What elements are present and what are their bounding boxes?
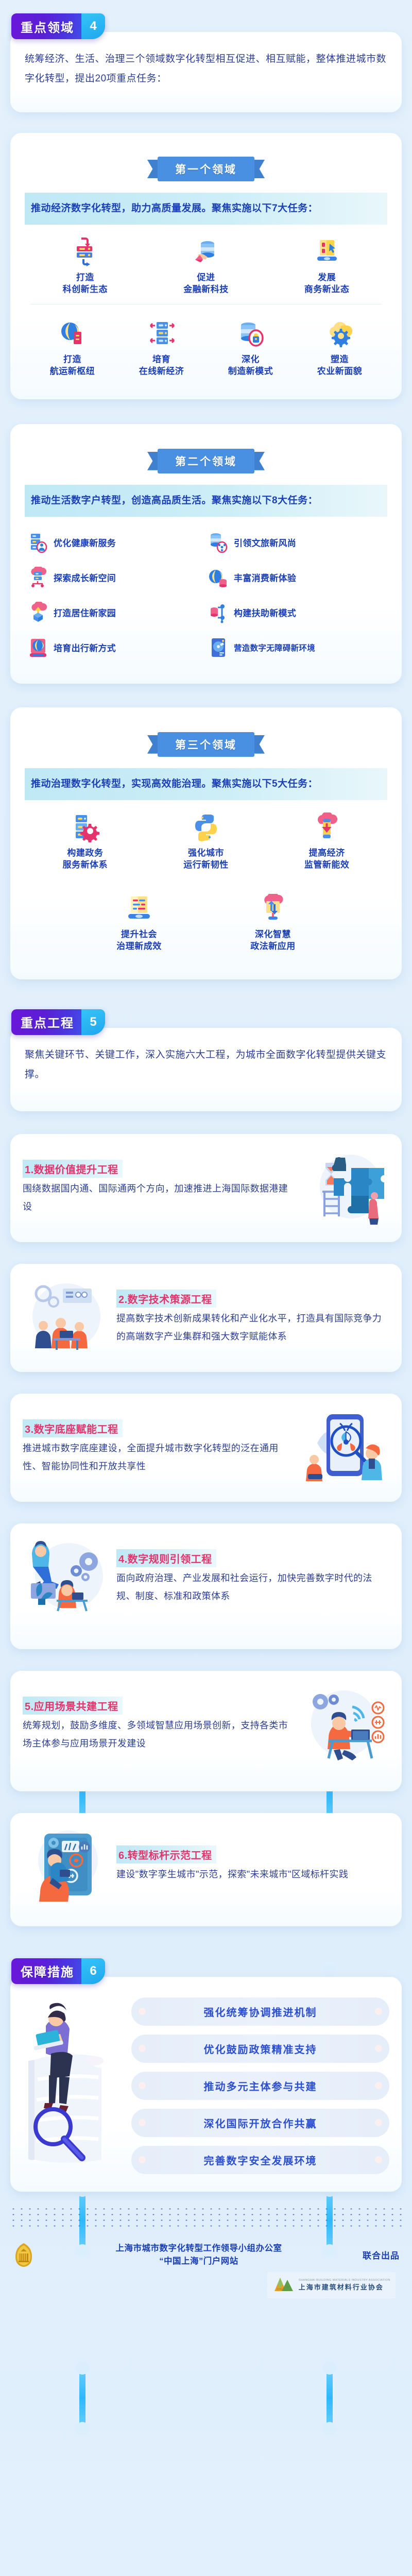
project-title: 4.数字规则引领工程 (116, 1549, 216, 1567)
task-item[interactable]: 构建政务 服务新体系 (25, 809, 146, 873)
task-label-line2: 在线新经济 (118, 366, 205, 378)
measures-card: 强化统筹协调推进机制 优化鼓励政策精准支持 推动多元主体参与共建 深化国际开放合… (10, 1977, 402, 2192)
chip-title: 重点工程 (11, 1009, 81, 1035)
domain2-task-list: 优化健康新服务 引领文旅新风尚 探索成长新空间 丰富消费新体验 打造居住新家园 (25, 517, 387, 668)
project-row: 3.数字底座赋能工程 推进城市数字底座建设，全面提升城市数字化转型的泛在通用性、… (23, 1409, 389, 1486)
task-label-line1: 促进 (147, 272, 266, 284)
task-label-line1: 塑造 (296, 354, 383, 366)
project-text: 4.数字规则引领工程 面向政府治理、产业发展和社会运行，加快完善数字时代的法规、… (116, 1549, 389, 1605)
project-text: 5.应用场景共建工程 统筹规划，鼓励多维度、多领域智慧应用场景创新，支持各类市场… (23, 1697, 296, 1753)
task-label-line2: 金融新科技 (147, 284, 266, 296)
project-body: 统筹规划，鼓励多维度、多领域智慧应用场景创新，支持各类市场主体参与应用场景开发建… (23, 1717, 296, 1753)
task-label-line1: 提升社会 (96, 929, 182, 941)
task-label-line1: 培育 (118, 354, 205, 366)
task-label-line2: 商务新业态 (267, 284, 386, 296)
phone-magnifier-art (302, 1409, 389, 1486)
task-item[interactable]: 打造居住新家园 (26, 595, 206, 630)
dotted-separator (9, 2206, 403, 2228)
task-item[interactable]: 打造 航运新枢纽 (28, 316, 117, 380)
puzzle-hourglass-art (302, 1149, 389, 1227)
cloud-download-phone-icon (267, 811, 386, 843)
task-label-line1: 深化智慧 (230, 929, 316, 941)
measure-item[interactable]: 完善数字安全发展环境 (131, 2146, 389, 2174)
task-label: 打造居住新家园 (54, 606, 116, 619)
measure-item[interactable]: 推动多元主体参与共建 (131, 2072, 389, 2100)
project-text: 1.数据价值提升工程 围绕数据国内通、国际通两个方向，加速推进上海国际数据港建设 (23, 1160, 296, 1216)
globe-database-icon (208, 567, 229, 588)
domain1-ribbon-row: 第一个领域 (25, 157, 387, 181)
chip-number: 4 (81, 13, 105, 39)
project-body: 推进城市数字底座建设，全面提升城市数字化转型的泛在通用性、智能协同性和开放共享性 (23, 1439, 296, 1476)
project-title: 6.转型标杆示范工程 (116, 1845, 216, 1863)
key-areas-chip: 重点领域 4 (0, 13, 412, 39)
project-card: 4.数字规则引领工程 面向政府治理、产业发展和社会运行，加快完善数字时代的法规、… (10, 1523, 402, 1649)
domain2-ribbon-row: 第二个领域 (25, 449, 387, 473)
domain3-row1: 构建政务 服务新体系 强化城市 运行新韧性 提高经济 监管新能效 (25, 800, 387, 877)
task-item[interactable]: 培育 在线新经济 (117, 316, 206, 380)
laptop-list-icon (96, 893, 182, 925)
measures-chip: 保障措施 6 (0, 1958, 412, 1984)
row-divider (30, 304, 382, 304)
key-projects-lead: 聚焦关键环节、关键工作，深入实施六大工程，为城市全面数字化转型提供关键支撑。 (25, 1045, 387, 1084)
key-areas-card: 统筹经济、生活、治理三个领域数字化转型相互促进、相互赋能，整体推进城市数字化转型… (10, 32, 402, 112)
domain3-card: 第三个领域 推动治理数字化转型，实现高效能治理。聚焦实施以下5大任务： 构建政务… (10, 707, 402, 979)
project-title: 3.数字底座赋能工程 (23, 1419, 123, 1437)
server-arrows-icon (118, 318, 205, 350)
chip-badge: 保障措施 6 (11, 1958, 105, 1984)
connector-rail (79, 2365, 85, 2432)
task-item[interactable]: 提高经济 监管新能效 (266, 809, 387, 873)
project-row: 6.转型标杆示范工程 建设"数字孪生城市"示范，探索"未来城市"区域标杆实践 (23, 1826, 389, 1904)
association-name-en: SHANGHAI BUILDING MATERIALS INDUSTRY ASS… (299, 2279, 390, 2282)
task-label: 丰富消费新体验 (234, 571, 296, 584)
project-body: 提高数字技术创新成果转化和产业化水平，打造具有国际竞争力的高端数字产业集群和强大… (116, 1310, 389, 1346)
association-name-cn: 上海市建筑材料行业协会 (299, 2282, 390, 2292)
page-footer: 上海市城市数字化转型工作领导小组办公室 “中国上海”门户网站 联合出品 SHMA… (0, 2228, 412, 2308)
globe-document-icon (29, 318, 116, 350)
task-item[interactable]: 深化 制造新模式 (206, 316, 295, 380)
hard-disk-icon (208, 637, 229, 658)
task-item[interactable]: 营造数字无障碍新环境 (206, 630, 386, 665)
measure-item[interactable]: 优化鼓励政策精准支持 (131, 2035, 389, 2063)
task-label-line2: 航运新枢纽 (29, 366, 116, 378)
domain1-intro: 推动经济数字化转型，助力高质量发展。聚焦实施以下7大任务： (25, 193, 387, 225)
task-label-line1: 打造 (29, 354, 116, 366)
hand-database-icon (147, 236, 266, 268)
key-projects-chip: 重点工程 5 (0, 1009, 412, 1035)
laptop-folder-cursor-icon (267, 236, 386, 268)
association-text: SHANGHAI BUILDING MATERIALS INDUSTRY ASS… (299, 2279, 390, 2292)
mountain-logo-icon: SHMA (272, 2276, 295, 2295)
project-body: 建设"数字孪生城市"示范，探索"未来城市"区域标杆实践 (116, 1866, 389, 1884)
python-icon (147, 811, 266, 843)
laptop-wifi-art (302, 1686, 389, 1764)
server-gear-icon (26, 811, 145, 843)
chip-number: 5 (81, 1009, 105, 1035)
task-label-line2: 制造新模式 (207, 366, 294, 378)
project-title: 2.数字技术策源工程 (116, 1290, 216, 1308)
measures-row: 强化统筹协调推进机制 优化鼓励政策精准支持 推动多元主体参与共建 深化国际开放合… (18, 1992, 391, 2174)
task-label-line1: 打造 (26, 272, 145, 284)
task-item[interactable]: 强化城市 运行新韧性 (146, 809, 267, 873)
domain1-row1: 打造 科创新生态 促进 金融新科技 发展 商务新业态 (25, 225, 387, 302)
domain1-ribbon: 第一个领域 (158, 157, 254, 181)
chip-badge: 重点领域 4 (11, 13, 105, 39)
task-label-line1: 深化 (207, 354, 294, 366)
measures-pill-list: 强化统筹协调推进机制 优化鼓励政策精准支持 推动多元主体参与共建 深化国际开放合… (131, 1997, 391, 2174)
task-item[interactable]: 深化智慧 政法新应用 (229, 891, 317, 955)
project-card: 2.数字技术策源工程 提高数字技术创新成果转化和产业化水平，打造具有国际竞争力的… (10, 1264, 402, 1372)
project-row: 2.数字技术策源工程 提高数字技术创新成果转化和产业化水平，打造具有国际竞争力的… (23, 1279, 389, 1357)
connector-rail (327, 2365, 333, 2432)
server-transfer-icon (26, 236, 145, 268)
project-card: 3.数字底座赋能工程 推进城市数字底座建设，全面提升城市数字化转型的泛在通用性、… (10, 1394, 402, 1502)
cloud-server-cart-icon (28, 567, 48, 588)
task-item[interactable]: 塑造 农业新面貌 (295, 316, 384, 380)
task-item[interactable]: 引领文旅新风尚 (206, 525, 386, 560)
svg-text:SHMA: SHMA (277, 2288, 284, 2291)
footer-org-names: 上海市城市数字化转型工作领导小组办公室 “中国上海”门户网站 (41, 2242, 356, 2268)
task-label-line1: 提高经济 (267, 848, 386, 859)
footer-org-line2: “中国上海”门户网站 (41, 2255, 356, 2268)
task-label-line2: 科创新生态 (26, 284, 145, 296)
footer-association: SHMA SHANGHAI BUILDING MATERIALS INDUSTR… (12, 2272, 400, 2298)
project-body: 面向政府治理、产业发展和社会运行，加快完善数字时代的法规、制度、标准和政策体系 (116, 1569, 389, 1605)
footer-org-row: 上海市城市数字化转型工作领导小组办公室 “中国上海”门户网站 联合出品 (12, 2241, 400, 2269)
database-lock-icon (207, 318, 294, 350)
project-card: 6.转型标杆示范工程 建设"数字孪生城市"示范，探索"未来城市"区域标杆实践 (10, 1813, 402, 1926)
task-label: 营造数字无障碍新环境 (234, 642, 315, 653)
task-label-line2: 政法新应用 (230, 941, 316, 953)
domain3-ribbon-row: 第三个领域 (25, 732, 387, 757)
person-ladder-magnifier-art (18, 2001, 128, 2171)
key-areas-lead: 统筹经济、生活、治理三个领域数字化转型相互促进、相互赋能，整体推进城市数字化转型… (25, 49, 387, 89)
task-label: 引领文旅新风尚 (234, 536, 296, 549)
project-body: 围绕数据国内通、国际通两个方向，加速推进上海国际数据港建设 (23, 1180, 296, 1216)
task-item[interactable]: 促进 金融新科技 (146, 234, 267, 298)
team-infinity-art (23, 1279, 110, 1357)
task-label-line2: 服务新体系 (26, 859, 145, 871)
server-user-icon (28, 532, 48, 553)
project-title: 1.数据价值提升工程 (23, 1160, 123, 1178)
task-label-line2: 治理新成效 (96, 941, 182, 953)
task-label: 培育出行新方式 (54, 641, 116, 654)
task-item[interactable]: 探索成长新空间 (26, 560, 206, 595)
project-text: 6.转型标杆示范工程 建设"数字孪生城市"示范，探索"未来城市"区域标杆实践 (116, 1845, 389, 1884)
domain2-intro: 推动生活数字户转型，创造高品质生活。聚焦实施以下8大任务： (25, 485, 387, 517)
association-logo-box: SHMA SHANGHAI BUILDING MATERIALS INDUSTR… (267, 2272, 396, 2298)
project-text: 3.数字底座赋能工程 推进城市数字底座建设，全面提升城市数字化转型的泛在通用性、… (23, 1419, 296, 1476)
chip-title: 重点领域 (11, 13, 81, 39)
task-label-line2: 监管新能效 (267, 859, 386, 871)
task-label-line2: 运行新韧性 (147, 859, 266, 871)
task-label: 探索成长新空间 (54, 571, 116, 584)
task-label-line1: 发展 (267, 272, 386, 284)
domain3-row2: 提升社会 治理新成效 深化智慧 政法新应用 (25, 877, 387, 959)
project-card: 5.应用场景共建工程 统筹规划，鼓励多维度、多领域智慧应用场景创新，支持各类市场… (10, 1671, 402, 1791)
footer-joint-label: 联合出品 (363, 2248, 400, 2261)
desk-gears-art (23, 1539, 110, 1616)
project-card: 1.数据价值提升工程 围绕数据国内通、国际通两个方向，加速推进上海国际数据港建设 (10, 1134, 402, 1242)
domain1-row2: 打造 航运新枢纽 培育 在线新经济 深化 制造新模式 塑造 农业新面貌 (25, 307, 387, 384)
chip-badge: 重点工程 5 (11, 1009, 105, 1035)
measure-item[interactable]: 深化国际开放合作共赢 (131, 2109, 389, 2137)
domain1-card: 第一个领域 推动经济数字化转型，助力高质量发展。聚焦实施以下7大任务： 打造 科… (10, 133, 402, 399)
chip-number: 6 (81, 1958, 105, 1984)
domain3-ribbon: 第三个领域 (158, 732, 254, 757)
measure-item[interactable]: 强化统筹协调推进机制 (131, 1997, 389, 2026)
project-row: 1.数据价值提升工程 围绕数据国内通、国际通两个方向，加速推进上海国际数据港建设 (23, 1149, 389, 1227)
gold-seal-icon (12, 2241, 35, 2269)
domain2-card: 第二个领域 推动生活数字户转型，创造高品质生活。聚焦实施以下8大任务： 优化健康… (10, 424, 402, 684)
task-label: 构建扶助新模式 (234, 606, 296, 619)
task-label-line1: 构建政务 (26, 848, 145, 859)
chip-title: 保障措施 (11, 1958, 81, 1984)
section-key-areas: 重点领域 4 统筹经济、生活、治理三个领域数字化转型相互促进、相互赋能，整体推进… (0, 0, 412, 112)
project-text: 2.数字技术策源工程 提高数字技术创新成果转化和产业化水平，打造具有国际竞争力的… (116, 1290, 389, 1346)
task-item[interactable]: 打造 科创新生态 (25, 234, 146, 298)
cloud-gear-icon (296, 318, 383, 350)
task-label-line2: 农业新面貌 (296, 366, 383, 378)
task-item[interactable]: 丰富消费新体验 (206, 560, 386, 595)
section-key-projects: 重点工程 5 聚焦关键环节、关键工作，深入实施六大工程，为城市全面数字化转型提供… (0, 979, 412, 1111)
database-share-icon (208, 532, 229, 553)
task-item[interactable]: 优化健康新服务 (26, 525, 206, 560)
domain3-intro: 推动治理数字化转型，实现高效能治理。聚焦实施以下5大任务： (25, 768, 387, 800)
node-network-icon (208, 602, 229, 623)
cloud-sync-icon (230, 893, 316, 925)
task-item[interactable]: 提升社会 治理新成效 (95, 891, 183, 955)
project-row: 5.应用场景共建工程 统筹规划，鼓励多维度、多领域智慧应用场景创新，支持各类市场… (23, 1686, 389, 1764)
task-item[interactable]: 发展 商务新业态 (266, 234, 387, 298)
task-label: 优化健康新服务 (54, 536, 116, 549)
dashboard-art (23, 1826, 110, 1904)
cloud-upload-icon (28, 602, 48, 623)
task-item[interactable]: 构建扶助新模式 (206, 595, 386, 630)
project-title: 5.应用场景共建工程 (23, 1697, 123, 1715)
globe-monitor-icon (28, 637, 48, 658)
section-measures: 保障措施 6 强化统筹协调推进机制 优化鼓励政策精准支持 推动多元主体参与共建 … (0, 1926, 412, 2192)
domain2-ribbon: 第二个领域 (158, 449, 254, 473)
key-projects-card: 聚焦关键环节、关键工作，深入实施六大工程，为城市全面数字化转型提供关键支撑。 (10, 1028, 402, 1111)
project-row: 4.数字规则引领工程 面向政府治理、产业发展和社会运行，加快完善数字时代的法规、… (23, 1539, 389, 1616)
task-label-line1: 强化城市 (147, 848, 266, 859)
task-item[interactable]: 培育出行新方式 (26, 630, 206, 665)
